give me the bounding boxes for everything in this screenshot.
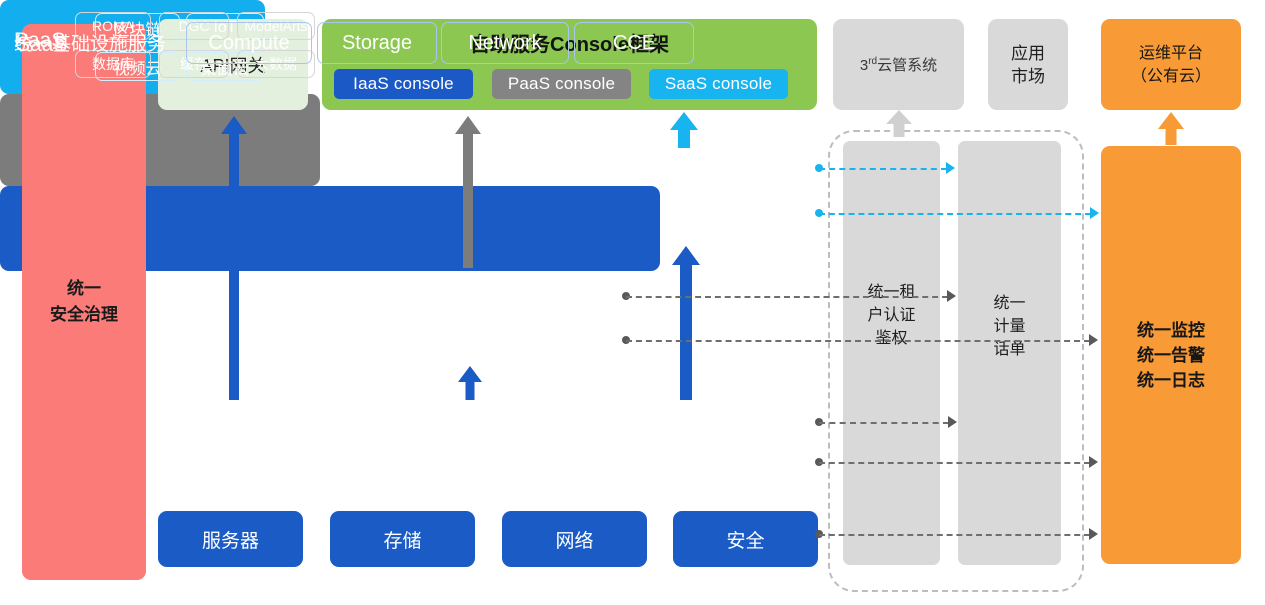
auth-line1: 统一租 [843, 281, 940, 304]
arrowhead-infra-ops [1089, 456, 1098, 468]
arrowhead-saas-auth [946, 162, 955, 174]
iaas-console-chip[interactable]: IaaS console [334, 69, 473, 99]
ops-platform-line2: （公有云） [1131, 65, 1211, 88]
arrow-to-ops-platform [1158, 112, 1184, 145]
security-governance-line1: 统一 [50, 276, 118, 302]
security-governance-panel: 统一 安全治理 [22, 24, 146, 580]
architecture-diagram: 统一 安全治理 API网关 自助服务Console框架 IaaS console… [0, 0, 1265, 605]
unified-monitoring-line3: 统一日志 [1137, 368, 1205, 393]
arrowhead-infra-auth [948, 416, 957, 428]
arrowhead-paas-auth [947, 290, 956, 302]
arrowhead-resource-ops [1089, 528, 1098, 540]
connector-saas-to-ops [819, 213, 1091, 215]
arrow-saas-to-saas-console [670, 112, 698, 148]
arrowhead-paas-ops [1089, 334, 1098, 346]
third-party-cloud-label: 3rd云管系统 [860, 54, 937, 75]
app-market-line2: 市场 [1011, 65, 1045, 88]
auth-line2: 户认证 [843, 304, 940, 327]
auth-line3: 鉴权 [843, 327, 940, 350]
saas-console-chip[interactable]: SaaS console [649, 69, 788, 99]
infra-chip-compute[interactable]: Compute [186, 22, 312, 64]
unified-infrastructure-label: 统一基础设施服务 [14, 29, 166, 56]
app-market-line1: 应用 [1011, 42, 1045, 65]
unified-monitoring-panel: 统一监控 统一告警 统一日志 [1101, 146, 1241, 564]
connector-resource-to-ops [819, 534, 1090, 536]
infra-chip-storage[interactable]: Storage [317, 22, 437, 64]
connector-infra-to-auth [819, 422, 949, 424]
unified-monitoring-line1: 统一监控 [1137, 318, 1205, 343]
connector-infra-to-ops [819, 462, 1090, 464]
app-market-box: 应用 市场 [988, 19, 1068, 110]
ops-platform-line1: 运维平台 [1131, 42, 1211, 65]
infra-chip-cce[interactable]: CCE [574, 22, 694, 64]
meter-line1: 统一 [958, 292, 1061, 315]
arrow-paas-to-console [455, 116, 481, 268]
connector-paas-to-auth [626, 296, 948, 298]
meter-line2: 计量 [958, 315, 1061, 338]
arrow-to-third-party-cloud [886, 110, 912, 137]
connector-saas-to-auth [819, 168, 947, 170]
unified-tenant-auth-column [843, 141, 940, 565]
unified-metering-label: 统一 计量 话单 [958, 292, 1061, 361]
arrow-infra-to-saas [672, 246, 700, 400]
arrow-infra-to-paas [458, 366, 482, 400]
arrowhead-saas-ops [1090, 207, 1099, 219]
unified-monitoring-line2: 统一告警 [1137, 343, 1205, 368]
resource-box-storage[interactable]: 存储 [330, 511, 475, 567]
ops-platform-box: 运维平台 （公有云） [1101, 19, 1241, 110]
resource-box-server[interactable]: 服务器 [158, 511, 303, 567]
connector-paas-to-ops [626, 340, 1090, 342]
paas-console-chip[interactable]: PaaS console [492, 69, 631, 99]
third-party-cloud-mgmt-box: 3rd云管系统 [833, 19, 964, 110]
security-governance-line2: 安全治理 [50, 302, 118, 328]
infra-chip-network[interactable]: Network [441, 22, 569, 64]
resource-box-network[interactable]: 网络 [502, 511, 647, 567]
arrow-infra-to-api-gateway [221, 116, 247, 400]
resource-box-security[interactable]: 安全 [673, 511, 818, 567]
